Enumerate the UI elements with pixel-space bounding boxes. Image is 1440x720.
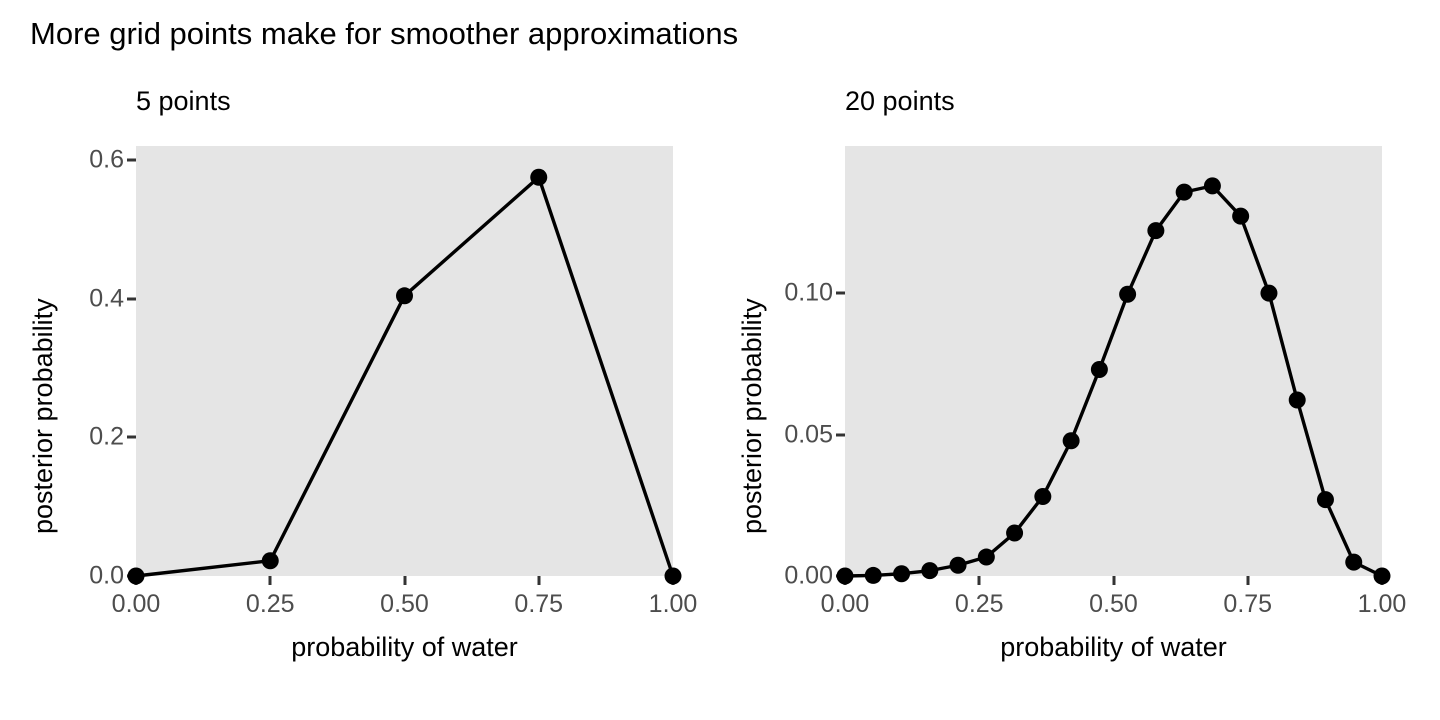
series-point bbox=[262, 552, 279, 569]
facet-panel-20-points: 20 points posterior probability probabil… bbox=[712, 84, 1440, 684]
series-point bbox=[1317, 491, 1334, 508]
series-plot-right bbox=[712, 84, 1440, 684]
page-title: More grid points make for smoother appro… bbox=[30, 14, 738, 54]
series-point bbox=[837, 568, 854, 585]
series-point bbox=[921, 562, 938, 579]
figure-root: More grid points make for smoother appro… bbox=[0, 0, 1440, 720]
series-point bbox=[1374, 568, 1391, 585]
series-point bbox=[1204, 177, 1221, 194]
series-point bbox=[865, 567, 882, 584]
series-point bbox=[1260, 285, 1277, 302]
series-point bbox=[978, 549, 995, 566]
facet-panel-5-points: 5 points posterior probability probabili… bbox=[0, 84, 712, 684]
series-line bbox=[136, 177, 673, 576]
series-point bbox=[1289, 392, 1306, 409]
series-point bbox=[396, 287, 413, 304]
series-point bbox=[1147, 222, 1164, 239]
series-point bbox=[1232, 208, 1249, 225]
series-point bbox=[1034, 488, 1051, 505]
series-point bbox=[128, 568, 145, 585]
series-point bbox=[1063, 432, 1080, 449]
series-plot-left bbox=[0, 84, 712, 684]
series-point bbox=[1345, 554, 1362, 571]
series-point bbox=[1119, 286, 1136, 303]
series-point bbox=[530, 169, 547, 186]
series-line bbox=[845, 186, 1382, 576]
series-point bbox=[1091, 361, 1108, 378]
series-point bbox=[1176, 184, 1193, 201]
series-point bbox=[665, 568, 682, 585]
series-point bbox=[1006, 525, 1023, 542]
series-point bbox=[893, 565, 910, 582]
series-point bbox=[950, 557, 967, 574]
